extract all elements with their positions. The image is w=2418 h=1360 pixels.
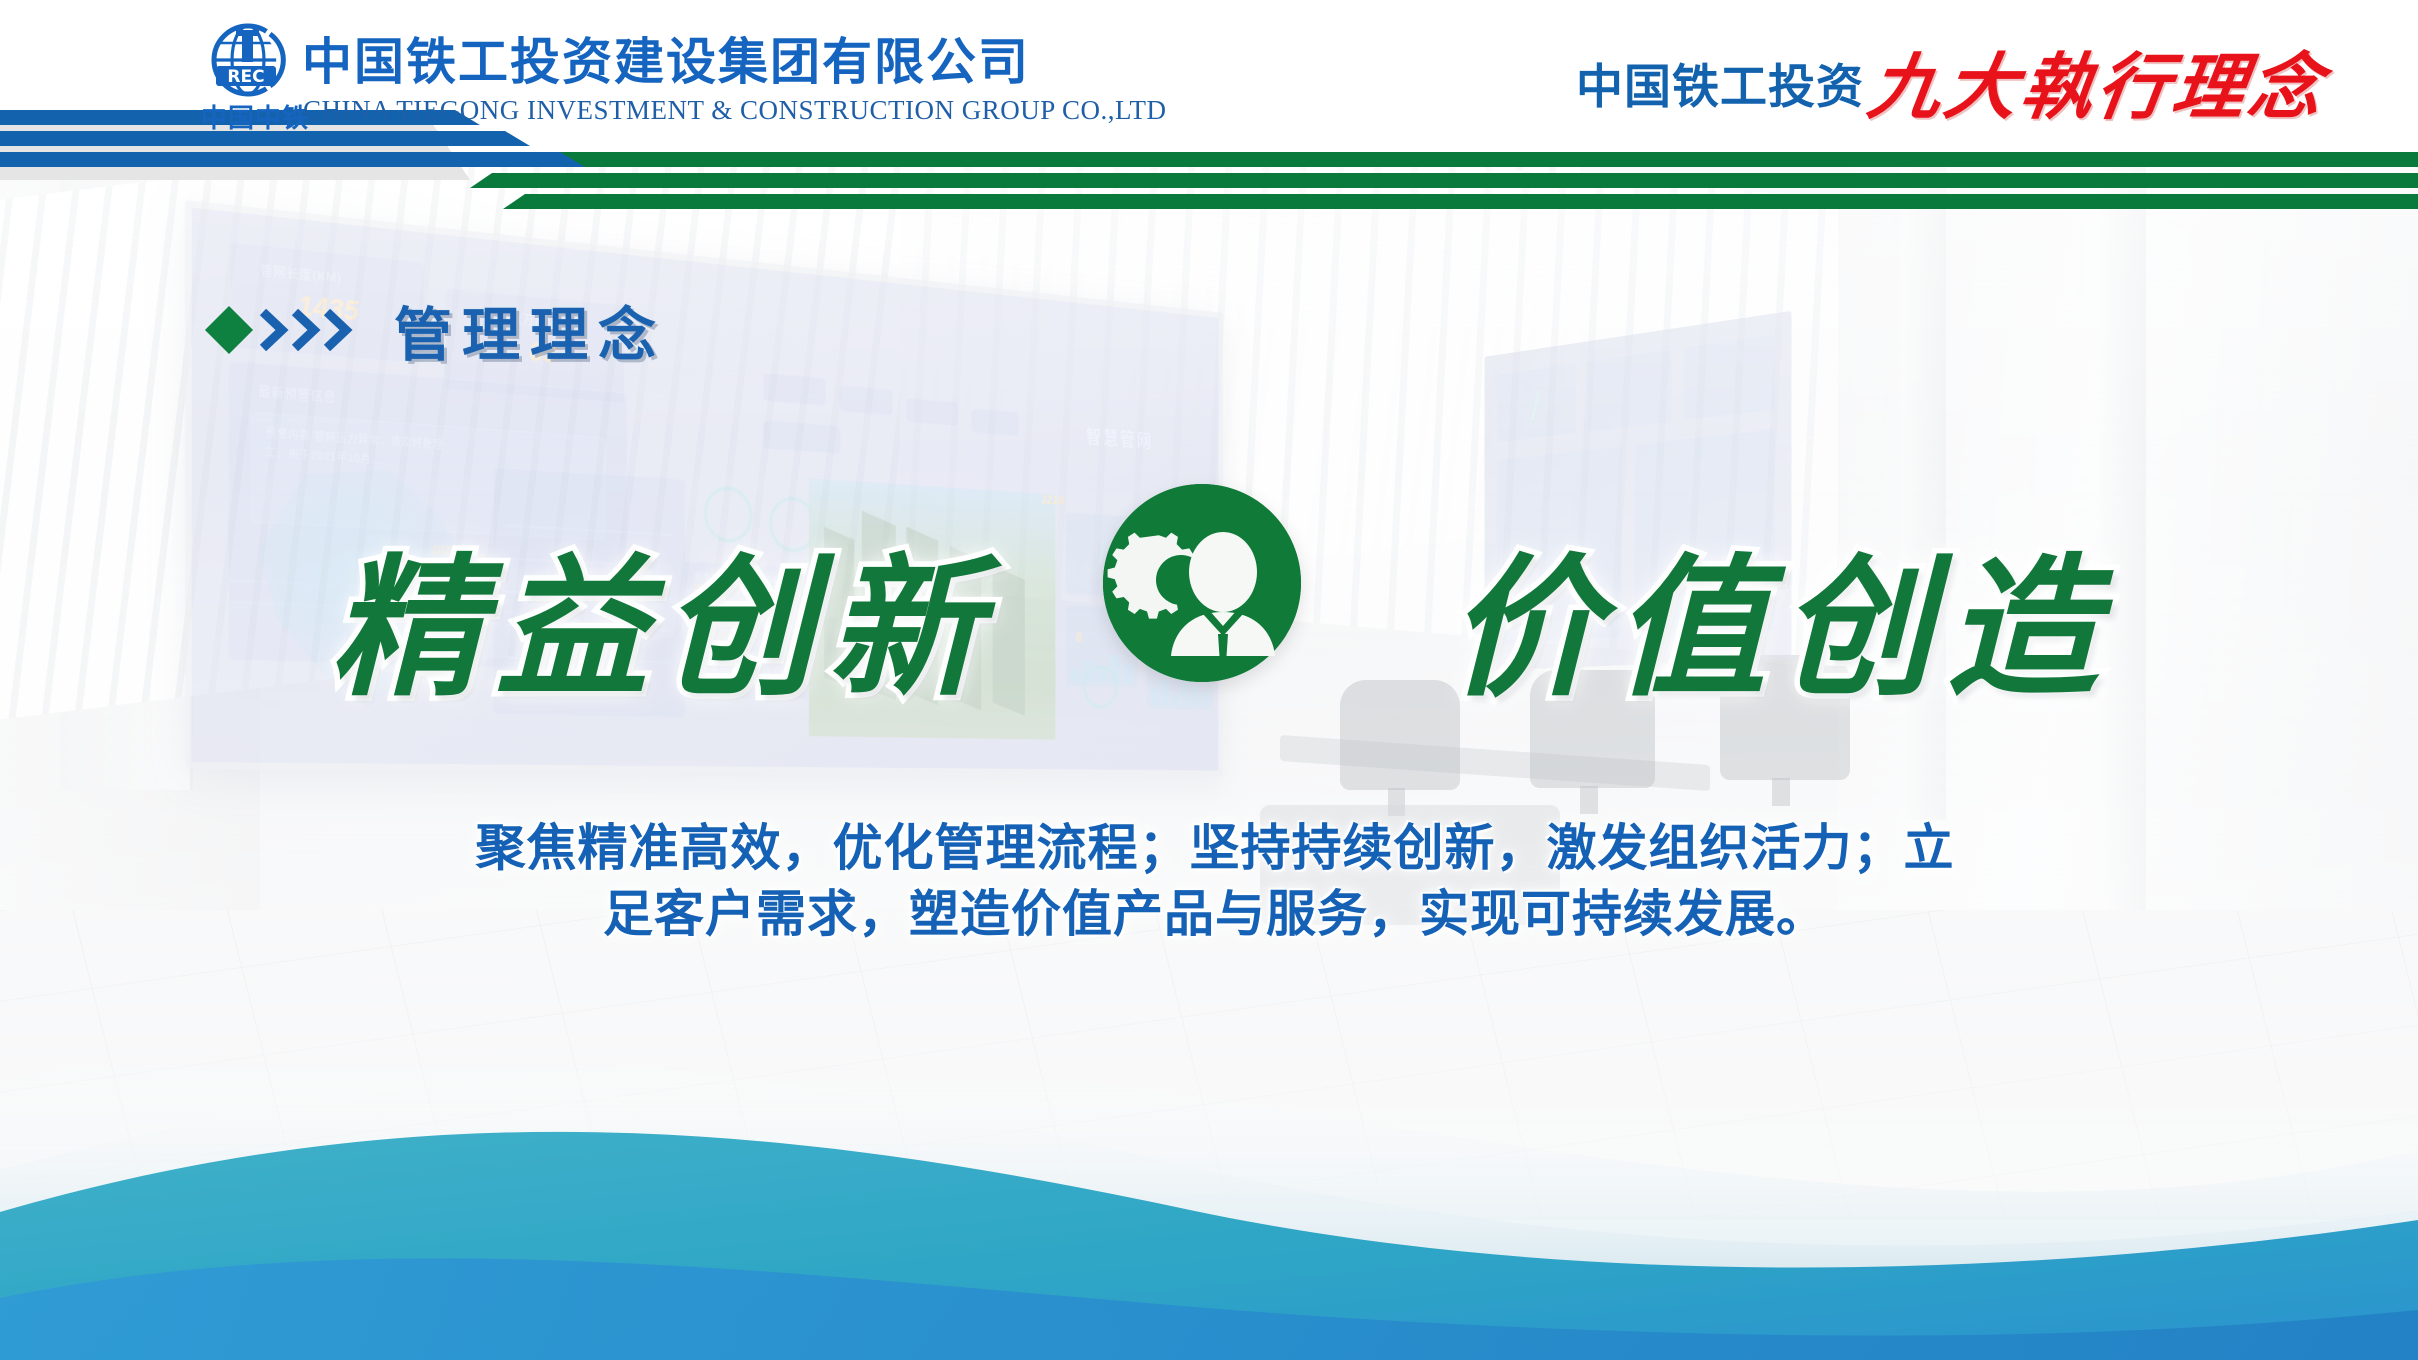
section-heading: 管理理念 xyxy=(212,288,666,372)
headline-right: 价值创造 xyxy=(1448,505,2112,725)
bottom-wave-decoration xyxy=(0,1030,2418,1360)
company-logo: REC 中国中铁 xyxy=(196,22,316,132)
tagline-main: 九大執行理念 xyxy=(1863,28,2334,133)
tagline-prefix: 中国铁工投资 xyxy=(1576,48,1864,117)
chevron-group xyxy=(260,309,354,351)
gear-and-person-icon xyxy=(1103,484,1301,682)
blue-stripe-3 xyxy=(0,152,585,167)
svg-text:REC: REC xyxy=(227,67,264,87)
green-stripe-1 xyxy=(438,152,2418,167)
company-name-zh: 中国铁工投资建设集团有限公司 xyxy=(302,22,1030,94)
body-paragraph: 聚焦精准高效，优化管理流程；坚持持续创新，激发组织活力；立足客户需求，塑造价值产… xyxy=(470,815,1960,947)
company-name-en: CHINA TIEGONG INVESTMENT & CONSTRUCTION … xyxy=(303,95,1167,126)
headline-left: 精益创新 xyxy=(330,505,994,725)
green-diamond-icon xyxy=(205,306,253,354)
chevron-right-icon xyxy=(324,309,354,351)
crec-globe-logo-icon: REC xyxy=(206,22,298,98)
chevron-right-icon xyxy=(292,309,322,351)
page-header: REC 中国中铁 中国铁工投资建设集团有限公司 CHINA TIEGONG IN… xyxy=(0,0,2418,152)
section-title-text: 管理理念 xyxy=(394,288,666,372)
slide-root: 管网长度(KM) 1435 用户数(万户) 69 智慧管网 最新预警信息 预警内… xyxy=(0,0,2418,1360)
logo-chinese-label: 中国中铁 xyxy=(196,98,314,135)
green-stripe-2 xyxy=(470,173,2418,188)
chevron-right-icon xyxy=(260,309,290,351)
green-stripe-3 xyxy=(503,194,2418,209)
